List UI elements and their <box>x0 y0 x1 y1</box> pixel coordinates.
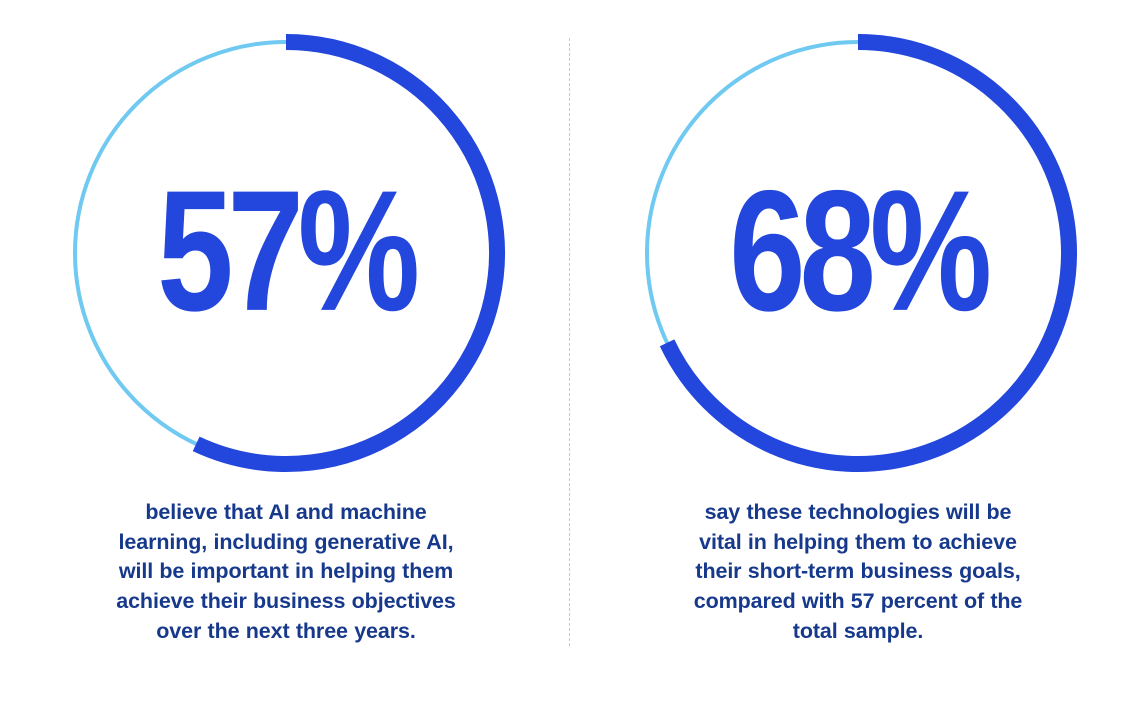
caption-line: compared with 57 percent of the <box>628 587 1088 617</box>
donut-gauge-left: 57% <box>63 30 509 476</box>
caption-line: over the next three years. <box>51 617 521 647</box>
gauge-value-label-right: 68% <box>730 165 987 337</box>
stat-panel-left: 57% believe that AI and machine learning… <box>0 0 572 715</box>
donut-gauge-right: 68% <box>635 30 1081 476</box>
caption-line: vital in helping them to achieve <box>628 528 1088 558</box>
caption-line: learning, including generative AI, <box>51 528 521 558</box>
caption-line: say these technologies will be <box>628 498 1088 528</box>
caption-line: their short-term business goals, <box>628 557 1088 587</box>
stat-caption-right: say these technologies will be vital in … <box>628 498 1088 646</box>
gauge-value-label-left: 57% <box>158 165 415 337</box>
stat-panel-right: 68% say these technologies will be vital… <box>572 0 1144 715</box>
caption-line: achieve their business objectives <box>51 587 521 617</box>
caption-line: believe that AI and machine <box>51 498 521 528</box>
stat-caption-left: believe that AI and machine learning, in… <box>51 498 521 646</box>
caption-line: will be important in helping them <box>51 557 521 587</box>
infographic-root: 57% believe that AI and machine learning… <box>0 0 1145 715</box>
caption-line: total sample. <box>628 617 1088 647</box>
panel-divider <box>569 38 570 646</box>
